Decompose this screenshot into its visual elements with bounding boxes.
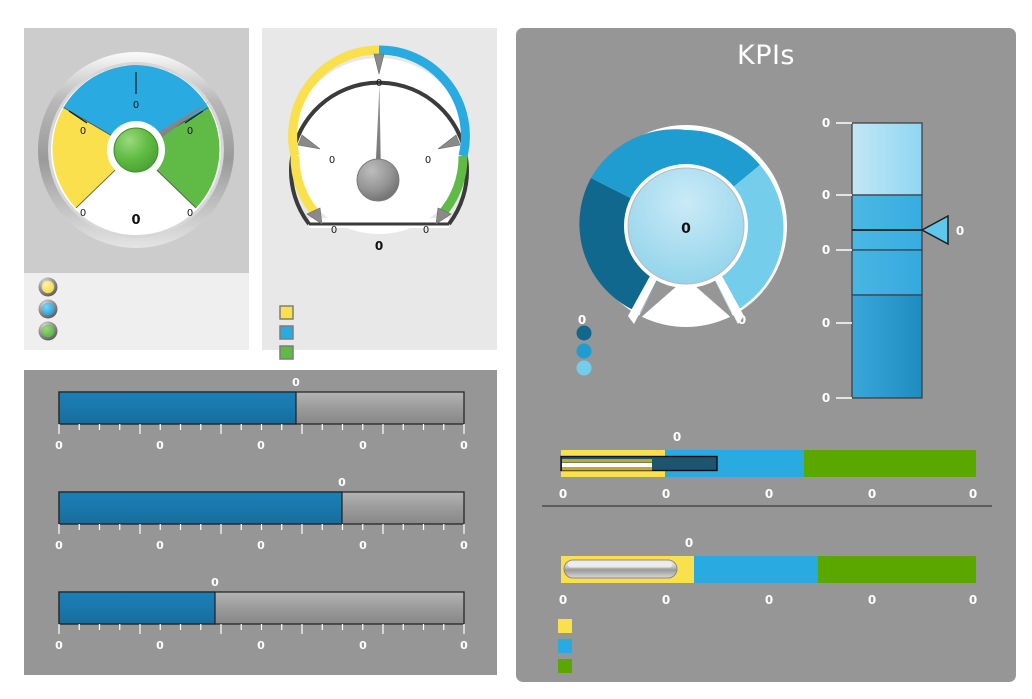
kpi-legend	[558, 619, 572, 673]
bar-gauge-2-fill	[59, 492, 342, 524]
bar-gauge-1-axis-3: 0	[359, 439, 367, 452]
vgauge-axis-label-2: 0	[822, 243, 830, 257]
bar-gauge-2-axis-1: 0	[156, 539, 164, 552]
radial-tick-label-2: 0	[187, 126, 193, 137]
radial-tick-label-4: 0	[187, 208, 193, 219]
bar-gauge-3-value: 0	[211, 576, 219, 589]
vgauge-band-bottom	[852, 295, 922, 398]
bullet-graph-2[interactable]: 0 0 0 0 0 0	[559, 536, 977, 607]
legend-swatch-yellow	[280, 306, 293, 319]
bullet-2-axis-3: 0	[868, 593, 876, 607]
radial-gauge-legend	[24, 273, 249, 350]
bar-gauge-1-axis-0: 0	[55, 439, 63, 452]
legend-dot-dark[interactable]	[577, 326, 592, 341]
speedo-tick-label-1: 0	[329, 155, 335, 166]
bar-gauge-2-ticks	[59, 524, 464, 534]
bar-gauge-1-fill	[59, 392, 296, 424]
bar-gauge-2-axis-3: 0	[359, 539, 367, 552]
bullet-2-axis-4: 0	[969, 593, 977, 607]
bar-gauge-2-value: 0	[338, 476, 346, 489]
legend-dot-light[interactable]	[577, 361, 592, 376]
speedo-tick-label-0: 0	[376, 78, 382, 89]
legend-item-green[interactable]	[39, 322, 58, 341]
speedo-tick-label-4: 0	[423, 225, 429, 236]
bar-gauge-3-ticks	[59, 624, 464, 634]
radial-gauge-svg[interactable]: 0 0 0 0 0 0	[24, 28, 249, 273]
bar-gauge-3-axis-3: 0	[359, 639, 367, 652]
legend-item-yellow[interactable]	[39, 278, 58, 297]
donut-end-label-0: 0	[578, 313, 586, 327]
bar-gauge-2-axis-2: 0	[257, 539, 265, 552]
gauge-hub[interactable]	[114, 128, 158, 172]
legend-swatch-green	[280, 346, 293, 359]
vgauge-axis-label-3: 0	[822, 316, 830, 330]
bar-gauge-3[interactable]: 0 0 0 0 0 0	[55, 576, 468, 652]
radial-gauge-plot-area: 0 0 0 0 0 0	[24, 28, 249, 273]
vgauge-axis-label-1: 0	[822, 188, 830, 202]
bar-gauges-panel: 0 0 0 0 0 0	[24, 370, 497, 675]
legend-item-blue[interactable]	[39, 300, 58, 319]
vgauge-band-top	[852, 123, 922, 195]
donut-legend	[577, 326, 592, 376]
vgauge-band-upper	[852, 195, 922, 250]
legend-swatch-yellow[interactable]	[558, 619, 572, 633]
vertical-linear-gauge[interactable]: 0 0 0 0 0 0	[822, 116, 964, 405]
bar-gauge-1-axis-4: 0	[460, 439, 468, 452]
bar-gauge-3-axis-4: 0	[460, 639, 468, 652]
bar-gauge-3-axis-0: 0	[55, 639, 63, 652]
radial-tick-label-3: 0	[80, 208, 86, 219]
bullet-2-range-blue	[694, 556, 818, 583]
legend-swatch-green[interactable]	[558, 659, 572, 673]
radial-gauge-panel: 0 0 0 0 0 0	[24, 28, 249, 350]
donut-gauge[interactable]: 0 0 0	[578, 38, 790, 327]
speedometer-legend	[262, 303, 497, 363]
bullet-1-measure-hl-top	[562, 459, 652, 463]
legend-item-blue[interactable]	[280, 326, 293, 339]
radial-tick-label-1: 0	[80, 126, 86, 137]
donut-gauge-value: 0	[681, 221, 691, 237]
bar-gauge-3-axis-2: 0	[257, 639, 265, 652]
bullet-1-axis-2: 0	[765, 487, 773, 501]
bullet-1-range-green	[804, 450, 976, 477]
bullet-graph-1[interactable]: 0 0 0 0 0 0	[559, 430, 977, 501]
vgauge-ticks	[836, 123, 852, 398]
bar-gauge-1[interactable]: 0 0 0 0 0 0	[55, 376, 468, 452]
bar-gauge-1-axis-1: 0	[156, 439, 164, 452]
vgauge-band-lower	[852, 250, 922, 295]
bullet-1-axis-0: 0	[559, 487, 567, 501]
bar-gauge-1-ticks	[59, 424, 464, 434]
legend-swatch-yellow	[42, 281, 54, 293]
bullet-1-measure-hl-bot	[562, 468, 652, 471]
bullet-1-axis-4: 0	[969, 487, 977, 501]
bar-gauges-svg[interactable]: 0 0 0 0 0 0	[24, 370, 497, 675]
dashboard-root: 0 0 0 0 0 0	[0, 0, 1032, 699]
radial-legend-svg	[24, 273, 249, 350]
bar-gauge-2[interactable]: 0 0 0 0 0 0	[55, 476, 468, 552]
speedo-hub[interactable]	[357, 159, 399, 201]
vgauge-marker[interactable]	[922, 216, 948, 244]
donut-end-label-1: 0	[738, 313, 746, 327]
radial-gauge-value: 0	[131, 213, 140, 228]
speedometer-svg[interactable]: 0 0 0 0 0 0	[262, 28, 497, 350]
vgauge-marker-label: 0	[956, 224, 964, 238]
vgauge-axis-label-4: 0	[822, 391, 830, 405]
legend-item-green[interactable]	[280, 346, 293, 359]
bar-gauge-3-fill	[59, 592, 215, 624]
bullet-1-measure-hl-mid	[562, 463, 652, 468]
bar-gauge-2-axis-0: 0	[55, 539, 63, 552]
radial-tick-label-0: 0	[133, 100, 139, 111]
bullet-2-axis-0: 0	[559, 593, 567, 607]
speedometer-panel: 0 0 0 0 0 0	[262, 28, 497, 350]
speedo-value: 0	[375, 239, 383, 253]
legend-swatch-blue	[280, 326, 293, 339]
bar-gauge-1-value: 0	[292, 376, 300, 389]
vgauge-axis-label-0: 0	[822, 116, 830, 130]
bullet-1-axis-3: 0	[868, 487, 876, 501]
kpis-panel: KPIs	[516, 28, 1016, 682]
legend-swatch-blue[interactable]	[558, 639, 572, 653]
bullet-2-range-green	[818, 556, 976, 583]
bullet-2-axis-2: 0	[765, 593, 773, 607]
speedo-tick-label-3: 0	[331, 225, 337, 236]
bar-gauge-3-axis-1: 0	[156, 639, 164, 652]
kpis-svg[interactable]: 0 0 0	[516, 28, 1016, 682]
speedo-tick-label-2: 0	[425, 155, 431, 166]
bullet-1-axis-1: 0	[662, 487, 670, 501]
bar-gauge-2-axis-4: 0	[460, 539, 468, 552]
bullet-2-axis-1: 0	[662, 593, 670, 607]
bullet-2-value: 0	[685, 536, 693, 550]
legend-swatch-blue	[42, 303, 54, 315]
legend-swatch-green	[42, 325, 54, 337]
bullet-1-value: 0	[673, 430, 681, 444]
legend-item-yellow[interactable]	[280, 306, 293, 319]
legend-dot-mid[interactable]	[577, 344, 592, 359]
bullet-2-measure-highlight	[568, 563, 672, 568]
bar-gauge-1-axis-2: 0	[257, 439, 265, 452]
